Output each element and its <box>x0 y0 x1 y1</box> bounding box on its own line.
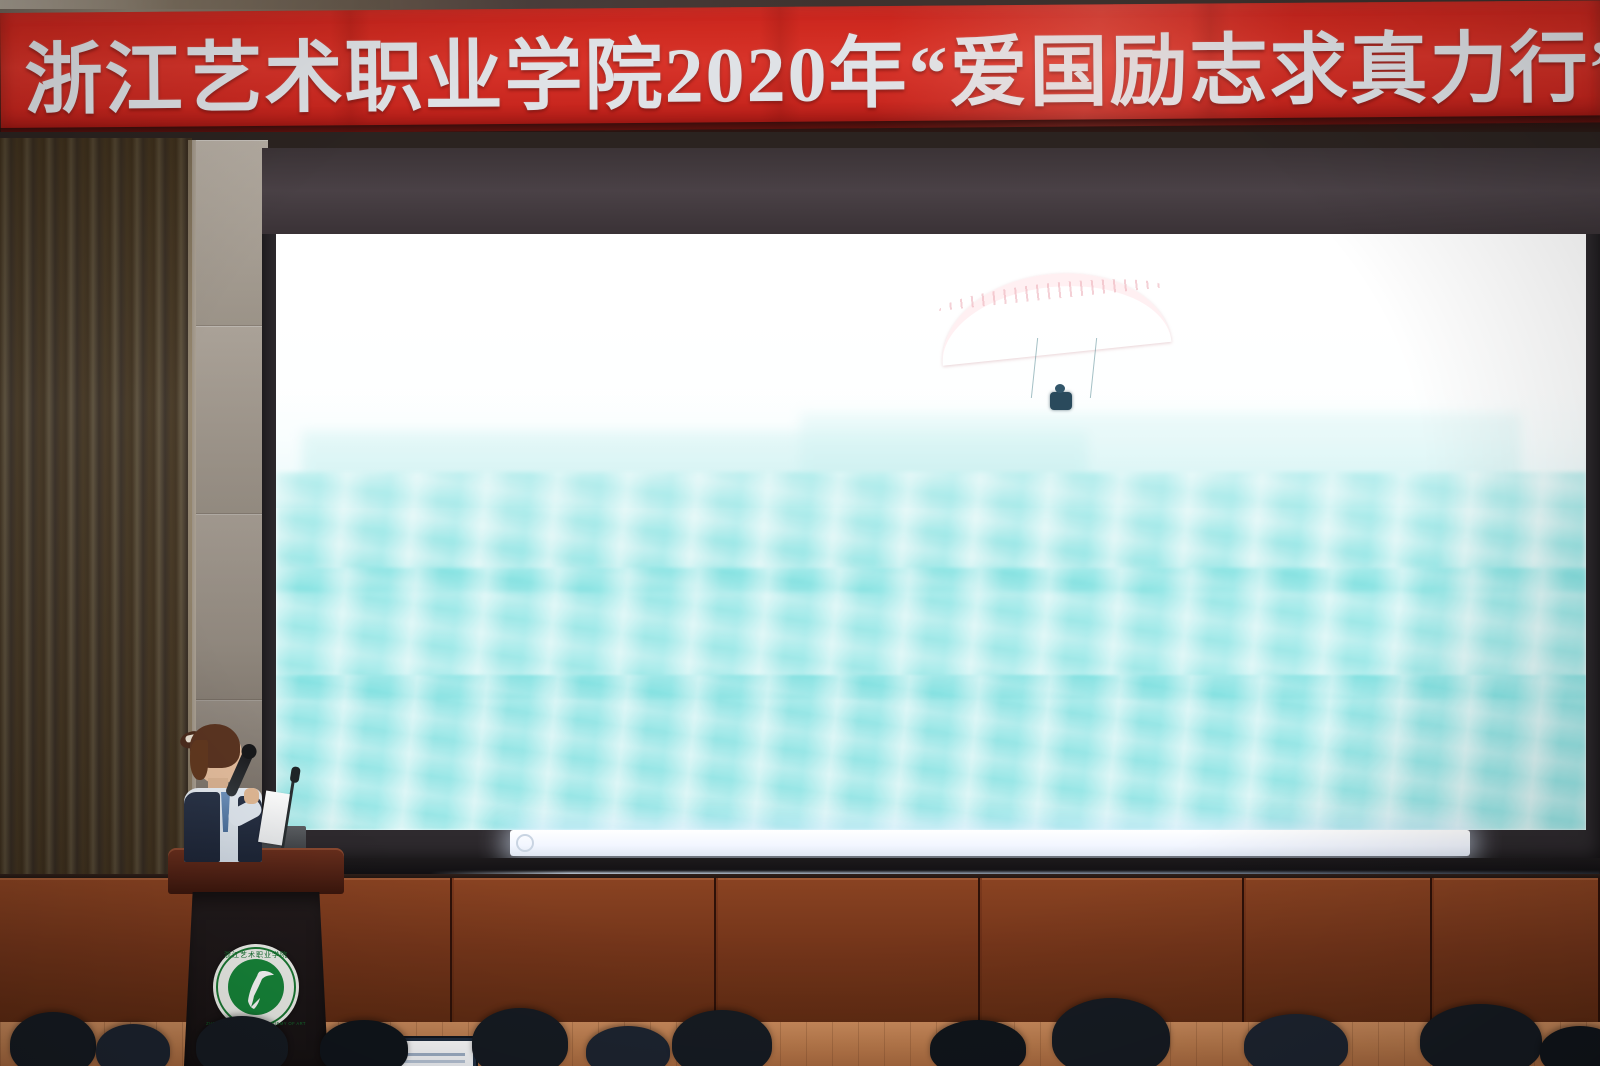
light-bar-end-cap <box>516 834 534 852</box>
speaker-hair-side <box>190 740 208 780</box>
auditorium-scene: 浙江艺术职业学院2020年“爱国励志求真力行”暑期社会实践 <box>0 0 1600 1066</box>
audience-head <box>672 1010 772 1066</box>
audience-head <box>1420 1004 1542 1066</box>
audience-head <box>1540 1026 1600 1066</box>
paraglider-pilot <box>1050 392 1072 410</box>
audience-head <box>586 1026 670 1066</box>
audience-head <box>1244 1014 1348 1066</box>
audience-head <box>196 1016 288 1066</box>
emblem-text-cn: 浙江艺术职业学院 <box>224 950 288 960</box>
fluorescent-light-bar <box>510 830 1470 856</box>
paraglider <box>938 264 1168 414</box>
audience-head <box>10 1012 96 1066</box>
speaker-hand <box>244 788 259 804</box>
audience-head <box>320 1020 408 1066</box>
projection-screen <box>276 234 1586 830</box>
audience-head <box>96 1024 170 1066</box>
screen-top-bar <box>262 148 1600 234</box>
paper-notes <box>258 790 290 845</box>
event-banner: 浙江艺术职业学院2020年“爱国励志求真力行”暑期社会实践 <box>0 0 1600 135</box>
banner-title: 浙江艺术职业学院2020年“爱国励志求真力行”暑期社会实践 <box>24 1 1600 129</box>
audience-head <box>472 1008 568 1066</box>
projection-screen-frame <box>262 148 1600 858</box>
overexposure-haze <box>276 234 1586 830</box>
audience-silhouettes <box>0 986 1600 1066</box>
speaker-vest <box>184 792 220 862</box>
audience-head <box>930 1020 1026 1066</box>
audience-head <box>1052 998 1170 1066</box>
student-speaker <box>178 726 298 886</box>
